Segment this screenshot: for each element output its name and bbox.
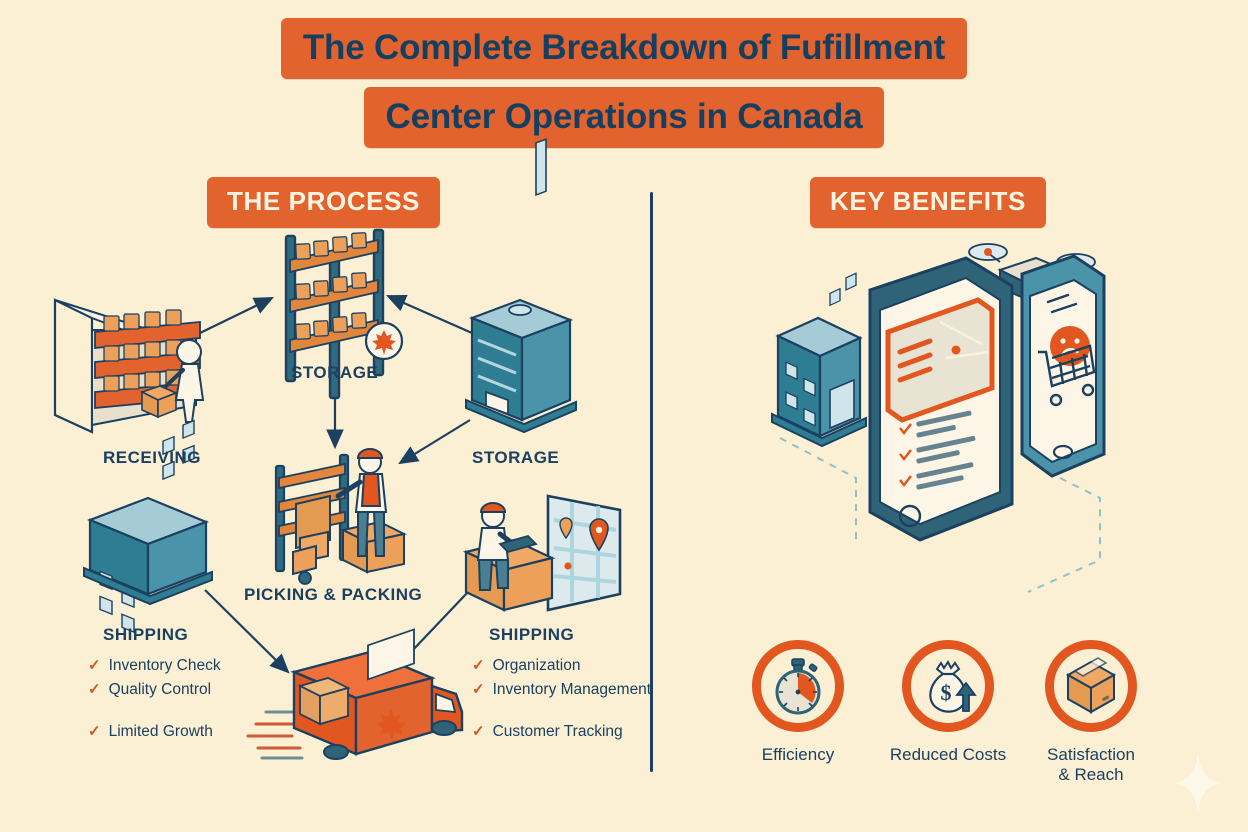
checklist-right: ✓ Organization ✓ Inventory Management ✓ … (472, 657, 651, 747)
phone-shopping-cart-sad-face-icon (1022, 256, 1104, 476)
node-label-storage-rack: STORAGE (291, 363, 378, 383)
checklist-left-item-0: Inventory Check (109, 657, 221, 675)
infographic-canvas: The Complete Breakdown of Fufillment Cen… (0, 0, 1248, 832)
tablet-dashboard-map-icon (870, 258, 1012, 540)
benefit-label-0: Efficiency (738, 745, 858, 765)
benefit-ring-0 (752, 640, 844, 732)
sparkle-icon (1172, 752, 1224, 814)
node-label-shipping-right: SHIPPING (489, 625, 574, 645)
node-label-picking-packing: PICKING & PACKING (244, 585, 422, 605)
checklist-left: ✓ Inventory Check ✓ Quality Control ✓ Li… (88, 657, 221, 747)
benefit-label-1: Reduced Costs (888, 745, 1008, 765)
list-item: ✓ Customer Tracking (472, 723, 651, 747)
checklist-right-item-1: Inventory Management (493, 681, 652, 699)
receiving-shelf-worker-icon (55, 300, 203, 432)
list-item: ✓ Organization (472, 657, 651, 681)
benefit-satisfaction-reach: Satisfaction & Reach (1031, 640, 1151, 785)
check-icon: ✓ (88, 682, 101, 697)
list-item: ✓ Inventory Management (472, 681, 651, 705)
benefits-devices-artwork (760, 240, 1160, 630)
check-icon: ✓ (472, 682, 485, 697)
cardboard-box-icon (1060, 655, 1122, 717)
shipping-worker-map-icon (466, 496, 620, 610)
node-label-receiving: RECEIVING (103, 448, 201, 468)
section-header-benefits: KEY BENEFITS (810, 177, 1046, 228)
check-icon: ✓ (472, 724, 485, 739)
benefit-ring-1: $ (902, 640, 994, 732)
list-item: ✓ Inventory Check (88, 657, 221, 681)
check-icon: ✓ (88, 724, 101, 739)
benefit-ring-2 (1045, 640, 1137, 732)
benefit-label-2-text: Satisfaction & Reach (1047, 745, 1135, 784)
list-item: ✓ Limited Growth (88, 723, 221, 747)
check-icon: ✓ (88, 658, 101, 673)
node-label-storage-building: STORAGE (472, 448, 559, 468)
checklist-left-item-1: Quality Control (109, 681, 212, 699)
money-bag-up-arrow-icon: $ (917, 655, 979, 717)
node-label-shipping-left: SHIPPING (103, 625, 188, 645)
picking-packing-worker-icon (276, 449, 404, 584)
checklist-left-item-2: Limited Growth (109, 723, 213, 741)
check-icon: ✓ (472, 658, 485, 673)
distribution-center-building-icon (772, 273, 866, 446)
delivery-truck-maple-leaf-icon (248, 629, 462, 759)
list-item: ✓ Quality Control (88, 681, 221, 705)
benefit-reduced-costs: $ Reduced Costs (888, 640, 1008, 765)
checklist-right-item-0: Organization (493, 657, 581, 675)
benefit-label-2: Satisfaction & Reach (1031, 745, 1151, 785)
warehouse-building-icon (466, 139, 576, 432)
svg-text:$: $ (941, 680, 952, 705)
benefit-efficiency: Efficiency (738, 640, 858, 765)
stopwatch-icon (767, 655, 829, 717)
checklist-right-item-2: Customer Tracking (493, 723, 623, 741)
